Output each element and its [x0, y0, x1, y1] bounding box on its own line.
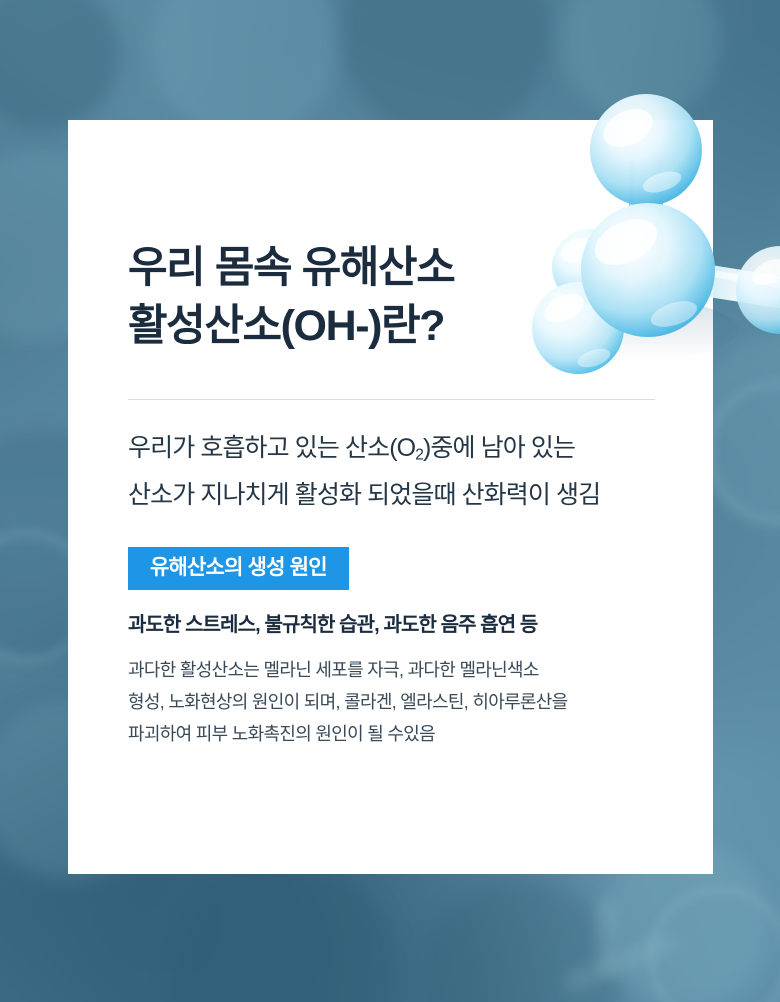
detail-line-3: 파괴하여 피부 노화촉진의 원인이 될 수있음 — [128, 724, 435, 744]
status-badge: 유해산소의 생성 원인 — [128, 547, 349, 590]
lead-line-1-before: 우리가 호흡하고 있는 산소(O — [128, 434, 415, 462]
page-title-line-1: 우리 몸속 유해산소 — [128, 244, 454, 292]
lead-line-1-after: )중에 남아 있는 — [423, 434, 575, 462]
background-molecule-bond — [596, 898, 618, 978]
page-title: 우리 몸속 유해산소 활성산소(OH-)란? — [128, 120, 668, 355]
detail-line-2: 형성, 노화현상의 원인이 되며, 콜라겐, 엘라스틴, 히아루론산을 — [128, 692, 568, 712]
oxygen-subscript: 2 — [415, 446, 423, 463]
detail-paragraph: 과다한 활성산소는 멜라닌 세포를 자극, 과다한 멜라닌색소 형성, 노화현상… — [128, 638, 668, 750]
lead-line-2: 산소가 지나치게 활성화 되었을때 산화력이 생김 — [128, 481, 600, 509]
card-content: 우리 몸속 유해산소 활성산소(OH-)란? 우리가 호흡하고 있는 산소(O2… — [128, 120, 668, 750]
promo-page: 우리 몸속 유해산소 활성산소(OH-)란? 우리가 호흡하고 있는 산소(O2… — [0, 0, 780, 1002]
cause-summary: 과도한 스트레스, 불규칙한 습관, 과도한 음주 흡연 등 — [128, 590, 668, 638]
lead-paragraph: 우리가 호흡하고 있는 산소(O2)중에 남아 있는 산소가 지나치게 활성화 … — [128, 400, 668, 516]
page-title-line-2: 활성산소(OH-)란? — [128, 302, 444, 350]
detail-line-1: 과다한 활성산소는 멜라닌 세포를 자극, 과다한 멜라닌색소 — [128, 660, 539, 680]
